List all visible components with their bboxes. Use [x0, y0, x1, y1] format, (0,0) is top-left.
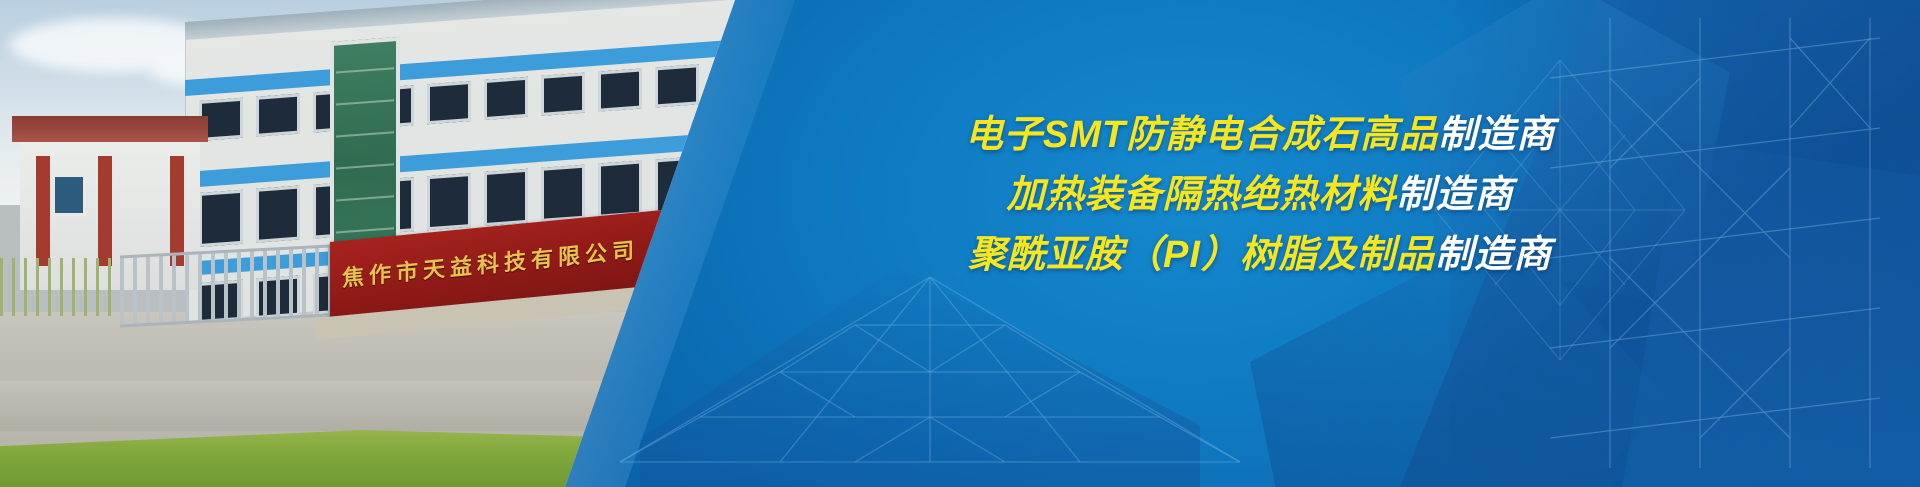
pillar — [98, 156, 112, 266]
company-name-text: 焦作市天益科技有限公司 — [342, 230, 660, 293]
red-roof — [12, 116, 208, 142]
pillar — [36, 156, 50, 266]
pillar — [170, 156, 184, 266]
window — [598, 68, 642, 111]
headline-line-3: 聚酰亚胺（PI）树脂及制品制造商 — [660, 236, 1860, 274]
window — [484, 169, 528, 226]
window — [655, 64, 699, 107]
window — [427, 173, 471, 230]
headline-line-1-white: 制造商 — [1438, 114, 1555, 156]
window — [199, 190, 243, 247]
window — [52, 174, 86, 216]
retractable-gate — [120, 244, 330, 327]
headline-line-2-white: 制造商 — [1397, 174, 1514, 216]
perimeter-fence — [0, 258, 120, 316]
window — [484, 77, 528, 120]
window — [541, 73, 585, 116]
headline-line-3-white: 制造商 — [1435, 234, 1552, 276]
headline-line-2: 加热装备隔热绝热材料制造商 — [660, 176, 1860, 214]
headline-block: 电子SMT防静电合成石高品制造商 加热装备隔热绝热材料制造商 聚酰亚胺（PI）树… — [660, 116, 1860, 274]
window — [541, 165, 585, 222]
headline-line-2-yellow: 加热装备隔热绝热材料 — [1006, 174, 1396, 216]
headline-line-1: 电子SMT防静电合成石高品制造商 — [660, 116, 1860, 154]
window — [256, 186, 300, 243]
headline-line-3-yellow: 聚酰亚胺（PI）树脂及制品 — [968, 234, 1435, 276]
window — [256, 94, 300, 137]
headline-line-1-yellow: 电子SMT防静电合成石高品 — [965, 114, 1438, 156]
hero-banner: 焦作市天益科技有限公司 电子SMT防静电合成石高品制造商 加热装备隔热绝热材料制… — [0, 0, 1920, 487]
window — [427, 81, 471, 124]
window — [598, 160, 642, 217]
